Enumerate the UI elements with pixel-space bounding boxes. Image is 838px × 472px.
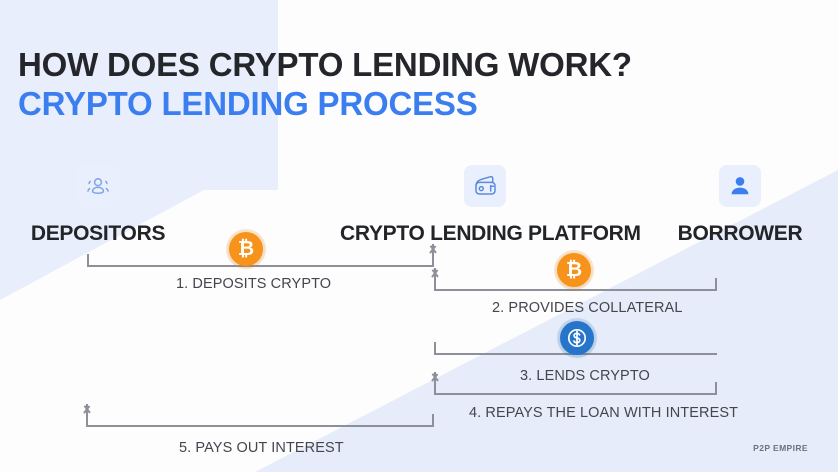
actor-label-platform: CRYPTO LENDING PLATFORM (340, 222, 630, 246)
people-group-icon (77, 165, 119, 207)
flow-2-label: 2. PROVIDES COLLATERAL (492, 300, 683, 316)
flow-4-label: 4. REPAYS THE LOAN WITH INTEREST (469, 405, 738, 421)
person-icon (719, 165, 761, 207)
infographic-canvas: HOW DOES CRYPTO LENDING WORK? CRYPTO LEN… (0, 0, 838, 472)
title-line-1: HOW DOES CRYPTO LENDING WORK? (18, 47, 632, 83)
flow-5-arrowhead (86, 404, 88, 426)
actor-label-borrower: BORROWER (650, 222, 830, 246)
flow-1-arrowhead (432, 244, 434, 266)
title-line-2: CRYPTO LENDING PROCESS (18, 86, 632, 122)
usdc-glyph (564, 325, 590, 351)
flow-3-start-tick (434, 342, 436, 354)
flow-5-line (86, 425, 434, 427)
bitcoin-coin-2: ₿ (557, 253, 591, 287)
flow-1-start-tick (87, 254, 89, 266)
flow-2-line (434, 289, 717, 291)
bitcoin-coin: ₿ (229, 232, 263, 266)
flow-4-line (434, 393, 717, 395)
flow-4-arrowhead (434, 372, 436, 394)
flow-5-label: 5. PAYS OUT INTEREST (179, 440, 344, 456)
wallet-icon (464, 165, 506, 207)
usdc-coin (560, 321, 594, 355)
background-left-wedge (0, 0, 360, 300)
flow-5-end-tick (432, 414, 434, 426)
actor-label-depositors: DEPOSITORS (13, 222, 183, 246)
flow-2-arrowhead (434, 268, 436, 290)
flow-2-end-tick (715, 278, 717, 290)
flow-4-end-tick (715, 382, 717, 394)
bitcoin-symbol: ₿ (238, 239, 254, 259)
flow-3-label: 3. LENDS CRYPTO (520, 368, 650, 384)
flow-1-line (87, 265, 434, 267)
bitcoin-symbol-2: ₿ (566, 260, 582, 280)
flow-1-label: 1. DEPOSITS CRYPTO (176, 276, 331, 292)
actor-depositors: DEPOSITORS (13, 165, 183, 246)
actor-borrower: BORROWER (650, 165, 830, 246)
watermark: P2P EMPIRE (753, 443, 808, 453)
page-title: HOW DOES CRYPTO LENDING WORK? CRYPTO LEN… (18, 47, 632, 122)
actor-platform: CRYPTO LENDING PLATFORM (340, 165, 630, 246)
